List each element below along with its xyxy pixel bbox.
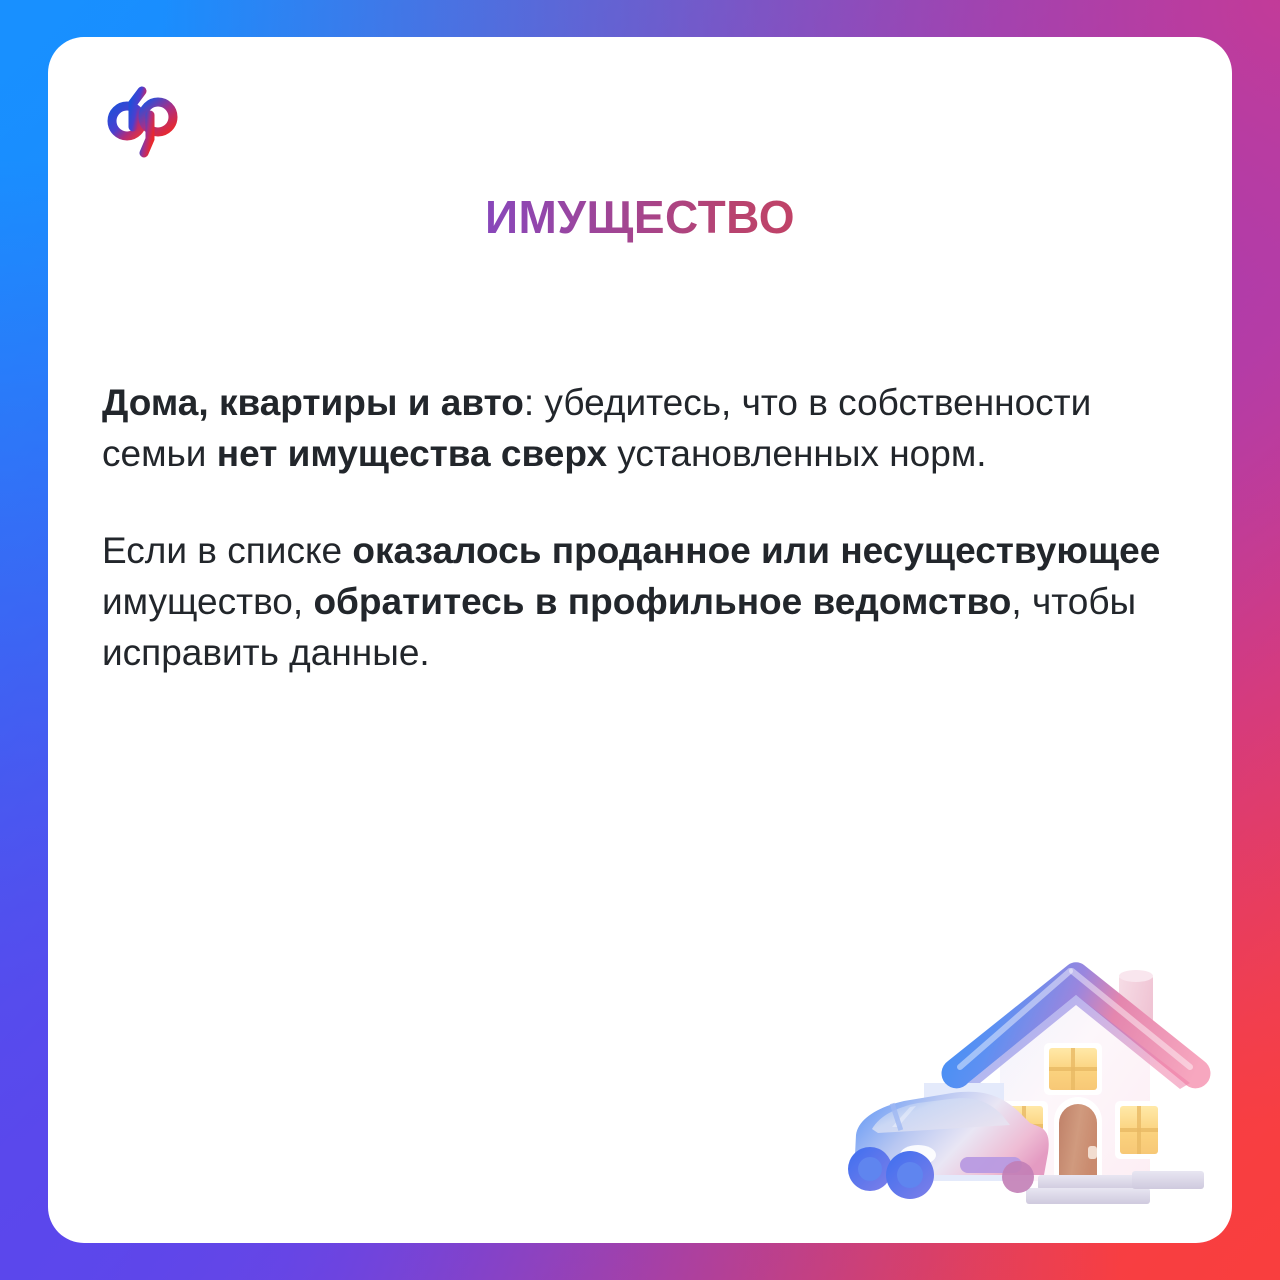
poster-background: ИМУЩЕСТВО Дома, квартиры и авто: убедите…: [0, 0, 1280, 1280]
body-text-run: Если в списке: [102, 530, 352, 571]
body-text-emphasis: обратитесь в профильное ведомство: [313, 581, 1011, 622]
body-text-emphasis: Дома, квартиры и авто: [102, 382, 524, 423]
sfr-logo: [100, 83, 190, 159]
body-paragraph: Если в списке оказалось проданное или не…: [102, 525, 1192, 678]
entrance-steps: [1026, 1171, 1204, 1204]
body-text-emphasis: нет имущества сверх: [217, 433, 607, 474]
content-card: ИМУЩЕСТВО Дома, квартиры и авто: убедите…: [48, 37, 1232, 1243]
body-text-run: имущество,: [102, 581, 313, 622]
right-window: [1115, 1101, 1163, 1159]
front-door: [1054, 1097, 1102, 1181]
page-title: ИМУЩЕСТВО: [48, 190, 1232, 244]
body-text-emphasis: оказалось проданное или несуществующее: [352, 530, 1160, 571]
body-paragraph: Дома, квартиры и авто: убедитесь, что в …: [102, 377, 1192, 479]
body-text-run: установленных норм.: [607, 433, 987, 474]
house-and-car-illustration: [832, 943, 1232, 1243]
attic-window: [1044, 1043, 1102, 1095]
body-copy: Дома, квартиры и авто: убедитесь, что в …: [102, 377, 1192, 678]
